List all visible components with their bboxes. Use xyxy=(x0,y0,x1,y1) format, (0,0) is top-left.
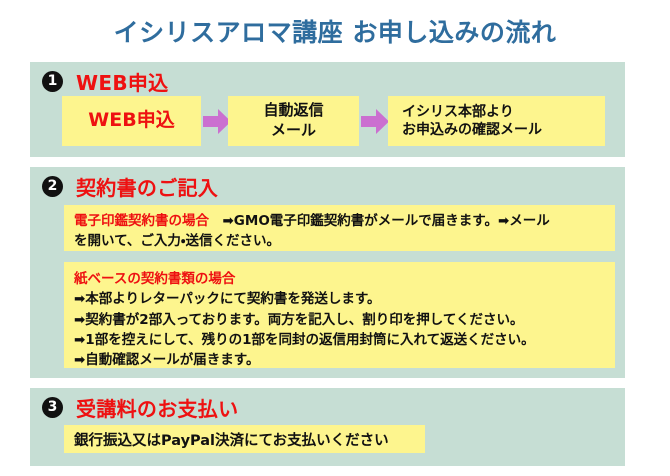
arrow-right-icon-2 xyxy=(361,109,389,134)
step-2-title: 契約書のご記入 xyxy=(76,172,218,201)
paper-contract-item-3: ➡1部を控えにして、残りの1部を同封の返信用封筒に入れて返送ください。 xyxy=(74,330,605,350)
payment-method-box: 銀行振込又はPayPal決済にてお支払いください xyxy=(64,425,425,453)
paper-contract-item-2: ➡契約書が2部入っております。両方を記入し、割り印を押してください。 xyxy=(74,310,605,330)
arrow-right-icon-1 xyxy=(203,109,231,134)
step-2-heading: 2 契約書のご記入 xyxy=(42,172,218,201)
page-title: イシリスアロマ講座 お申し込みの流れ xyxy=(0,13,670,49)
digital-contract-line-1: 電子印鑑契約書の場合 ➡GMO電子印鑑契約書がメールで届きます。➡メール xyxy=(74,211,605,231)
flow-box-3-line-2: お申込みの確認メール xyxy=(402,122,542,138)
flow-box-1-label: WEB申込 xyxy=(88,108,174,133)
digital-contract-body-1: ➡GMO電子印鑑契約書がメールで届きます。➡メール xyxy=(209,213,550,229)
digital-contract-line-2: を開いて、ご入力・送信ください。 xyxy=(74,231,605,251)
flow-box-2-label: 自動返信 メール xyxy=(263,101,323,141)
flow-box-auto-reply-mail: 自動返信 メール xyxy=(228,96,359,146)
flow-box-2-line-2: メール xyxy=(271,121,316,139)
slide-root: イシリスアロマ講座 お申し込みの流れ 1 WEB申込 WEB申込 自動返信 メー… xyxy=(0,0,670,476)
step-1-title: WEB申込 xyxy=(76,67,168,96)
paper-contract-item-4: ➡自動確認メールが届きます。 xyxy=(74,350,605,370)
digital-contract-label: 電子印鑑契約書の場合 xyxy=(74,213,209,229)
step-3-title: 受講料のお支払い xyxy=(76,393,238,422)
paper-contract-box: 紙ベースの契約書類の場合 ➡本部よりレターパックにて契約書を発送します。 ➡契約… xyxy=(64,262,615,368)
payment-method-text: 銀行振込又はPayPal決済にてお支払いください xyxy=(74,429,389,450)
flow-box-3-line-1: イシリス本部より xyxy=(402,104,514,120)
digital-seal-contract-box: 電子印鑑契約書の場合 ➡GMO電子印鑑契約書がメールで届きます。➡メール を開い… xyxy=(64,205,615,251)
paper-contract-item-1: ➡本部よりレターパックにて契約書を発送します。 xyxy=(74,289,605,309)
step-1-heading: 1 WEB申込 xyxy=(42,67,168,96)
flow-box-2-line-1: 自動返信 xyxy=(263,101,323,119)
flow-box-3-label: イシリス本部より お申込みの確認メール xyxy=(388,103,605,140)
paper-contract-label: 紙ベースの契約書類の場合 xyxy=(74,269,605,289)
flow-box-hq-confirmation-mail: イシリス本部より お申込みの確認メール xyxy=(388,96,605,146)
flow-box-web-application: WEB申込 xyxy=(62,96,201,146)
step-1-number-badge: 1 xyxy=(42,71,63,92)
step-3-heading: 3 受講料のお支払い xyxy=(42,393,238,422)
step-2-number-badge: 2 xyxy=(42,176,63,197)
step-3-number-badge: 3 xyxy=(42,397,63,418)
